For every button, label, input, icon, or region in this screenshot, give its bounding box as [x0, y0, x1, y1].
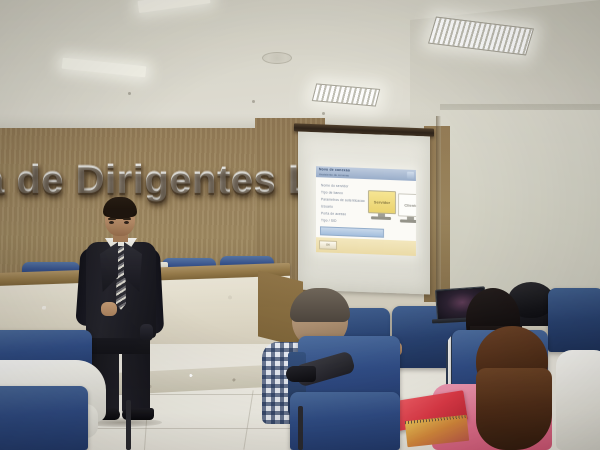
presenter-hair: [103, 197, 137, 217]
slide-body: Nome do servidor Tipo de banco Parametro…: [316, 177, 416, 241]
presenter-left-hand: [101, 302, 117, 316]
ceiling-sensor-3: [322, 112, 325, 115]
client-monitor-icon: Cliente: [398, 193, 416, 223]
slide-field-3: Parametros de autenticacao: [321, 197, 365, 203]
wall-corner-edge: [436, 116, 441, 316]
presenter-eye-left: [109, 221, 114, 224]
slide-field-6: Tipo / SID: [321, 218, 337, 223]
slide-footer: OK: [316, 237, 416, 256]
audience-crossed-shoe: [286, 366, 316, 382]
slide-progress-bar: [320, 226, 384, 237]
presenter-brow-right: [123, 218, 131, 220]
auditorium-photo: a de Dirigentes Lo Novo de conexao Assis…: [0, 0, 600, 450]
audience-chair-front-right[interactable]: [290, 392, 400, 450]
server-monitor-caption: Servidor: [368, 190, 396, 214]
chair-leg-1: [298, 406, 303, 450]
slide-field-5: Porta de acesso: [321, 211, 346, 216]
projected-slide: Novo de conexao Assistente de conexao No…: [316, 166, 416, 256]
chair-leg-2: [126, 400, 131, 450]
presenter-eye-right: [124, 221, 129, 224]
audience-checkered-hair: [290, 288, 350, 322]
slide-window-subtitle: Assistente de conexao: [319, 172, 349, 177]
slide-footer-button: OK: [319, 240, 337, 250]
presenter-right-hand: [140, 324, 153, 341]
server-monitor-icon: Servidor: [368, 190, 394, 220]
slide-field-4: Usuario: [321, 204, 333, 208]
slide-field-2: Tipo de banco: [321, 190, 343, 195]
audience-chair-front-left[interactable]: [0, 386, 88, 450]
client-monitor-base: [400, 219, 416, 223]
client-monitor-caption: Cliente: [398, 193, 416, 217]
ceiling-sensor-2: [252, 100, 255, 103]
projection-screen: Novo de conexao Assistente de conexao No…: [298, 123, 430, 298]
slide-field-1: Nome do servidor: [321, 183, 349, 188]
screen-surface: Novo de conexao Assistente de conexao No…: [298, 131, 430, 294]
server-monitor-base: [371, 216, 391, 220]
slide-close-icon: [407, 171, 414, 178]
presenter-brow-left: [108, 218, 116, 220]
audience-pink-hair-fall: [476, 368, 552, 450]
ceiling-vent: [262, 52, 292, 64]
ceiling-sensor-1: [128, 92, 131, 95]
